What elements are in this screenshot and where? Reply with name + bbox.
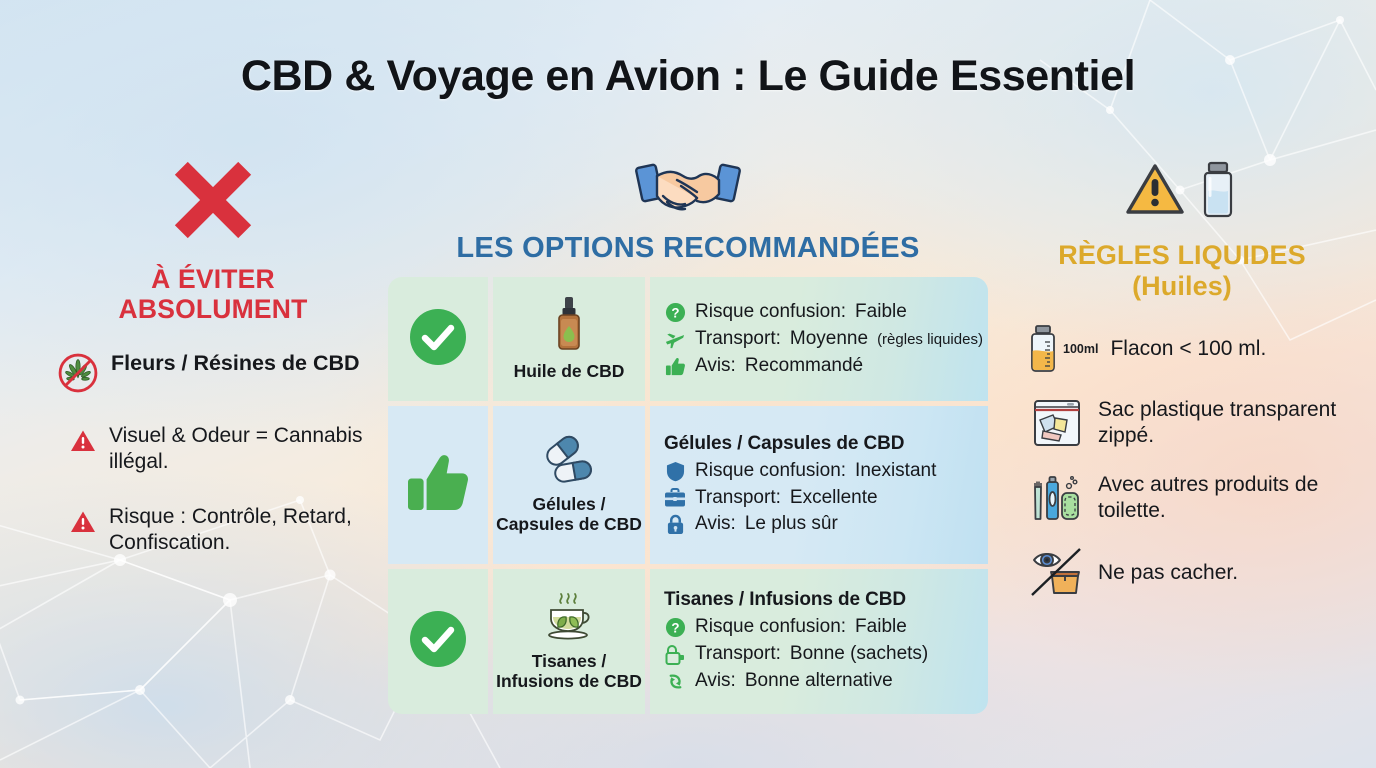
shield-icon [664,461,686,482]
detail-value: Le plus sûr [745,511,838,538]
detail-line: Transport: Bonne (sachets) [664,641,988,668]
detail-label: Avis: [695,511,736,538]
detail-line: Transport: Moyenne (règles liquides) [664,326,988,353]
left-column-avoid: À ÉVITER ABSOLUMENT [48,150,378,555]
list-item: Visuel & Odeur = Cannabis illégal. [48,423,378,474]
question-badge-icon: ? [664,302,686,323]
svg-text:?: ? [671,620,679,635]
detail-cell: ? Risque confusion: Faible Transport: [650,277,988,401]
list-item: Avec autres produits de toilette. [1006,472,1358,523]
list-item: Sac plastique transparent zippé. [1006,397,1358,448]
zip-bag-icon [1028,398,1086,448]
right-header-icons [1006,150,1358,234]
warning-triangle-icon [1125,162,1185,223]
detail-value: Recommandé [745,353,863,380]
detail-cell: Tisanes / Infusions de CBD ? Risque conf… [650,569,988,714]
product-name: Huile de CBD [514,362,625,382]
middle-heading: LES OPTIONS RECOMMANDÉES [388,232,988,265]
options-table: Huile de CBD ? Risque confusion: Faible [388,277,988,714]
detail-value: Bonne (sachets) [790,641,928,668]
right-column-liquid-rules: RÈGLES LIQUIDES (Huiles) [1006,150,1358,597]
verdict-cell [388,406,488,564]
detail-note: (règles liquides) [877,329,983,350]
detail-title: Tisanes / Infusions de CBD [664,589,988,611]
detail-label: Transport: [695,326,781,353]
list-item: Risque : Contrôle, Retard, Confiscation. [48,504,378,555]
red-x-icon [48,150,378,250]
question-badge-icon: ? [664,617,686,638]
lock-icon [664,514,686,535]
table-row: Huile de CBD ? Risque confusion: Faible [388,277,988,401]
handshake-icon [388,152,988,228]
detail-value: Faible [855,299,907,326]
green-check-circle-icon [407,306,469,373]
no-cannabis-icon [58,350,98,393]
warning-triangle-icon [68,423,98,453]
measure-label: 100ml [1063,342,1098,356]
left-heading-line1: À ÉVITER [48,264,378,294]
right-heading: RÈGLES LIQUIDES (Huiles) [1006,240,1358,301]
list-item-label: Avec autres produits de toilette. [1098,472,1358,523]
tea-cup-icon [539,592,599,647]
eye-crossed-box-icon [1028,547,1086,597]
capsules-icon [541,435,597,490]
detail-value: Inexistant [855,458,936,485]
list-item-label: Fleurs / Résines de CBD [111,350,360,376]
product-name: Tisanes / Infusions de CBD [493,652,645,692]
detail-cell: Gélules / Capsules de CBD Risque confusi… [650,406,988,564]
table-row: Tisanes / Infusions de CBD Tisanes / Inf… [388,569,988,714]
glass-bottle-icon [1197,161,1239,224]
list-item-label: Visuel & Odeur = Cannabis illégal. [109,423,378,474]
left-heading-line2: ABSOLUMENT [48,294,378,324]
airplane-icon [664,330,686,350]
briefcase-icon [664,488,686,508]
detail-title: Gélules / Capsules de CBD [664,433,988,455]
verdict-cell [388,277,488,401]
detail-label: Avis: [695,668,736,695]
detail-label: Risque confusion: [695,299,846,326]
detail-label: Risque confusion: [695,458,846,485]
detail-label: Risque confusion: [695,614,846,641]
detail-line: Avis: Le plus sûr [664,511,988,538]
detail-label: Transport: [695,641,781,668]
verdict-cell [388,569,488,714]
detail-value: Faible [855,614,907,641]
detail-line: ? Risque confusion: Faible [664,614,988,641]
right-heading-line1: RÈGLES LIQUIDES [1006,240,1358,271]
measuring-bottle-icon: 100ml [1028,325,1098,373]
product-name: Gélules / Capsules de CBD [493,495,645,535]
list-item-label: Risque : Contrôle, Retard, Confiscation. [109,504,378,555]
recycle-arrows-icon [664,671,686,692]
warning-triangle-icon [68,504,98,534]
detail-line: ? Risque confusion: Faible [664,299,988,326]
list-item: Fleurs / Résines de CBD [48,350,378,393]
svg-text:?: ? [671,305,679,320]
green-check-circle-icon [407,608,469,675]
detail-label: Avis: [695,353,736,380]
table-row: Gélules / Capsules de CBD Gélules / Caps… [388,406,988,564]
tea-bag-icon [664,644,686,666]
detail-value: Bonne alternative [745,668,893,695]
product-cell: Gélules / Capsules de CBD [493,406,645,564]
thumbs-up-icon [664,356,686,377]
right-heading-line2: (Huiles) [1006,271,1358,302]
detail-line: Transport: Excellente [664,485,988,512]
list-item-label: Ne pas cacher. [1098,560,1238,586]
detail-line: Avis: Recommandé [664,353,988,380]
detail-line: Risque confusion: Inexistant [664,458,988,485]
detail-value: Excellente [790,485,878,512]
left-heading: À ÉVITER ABSOLUMENT [48,264,378,324]
product-cell: Huile de CBD [493,277,645,401]
detail-label: Transport: [695,485,781,512]
list-item-label: Sac plastique transparent zippé. [1098,397,1358,448]
cbd-oil-dropper-bottle-icon [548,296,590,357]
product-cell: Tisanes / Infusions de CBD [493,569,645,714]
list-item: 100ml Flacon < 100 ml. [1006,325,1358,373]
middle-column-recommended: LES OPTIONS RECOMMANDÉES [388,152,988,714]
list-item: Ne pas cacher. [1006,547,1358,597]
list-item-label: Flacon < 100 ml. [1110,336,1266,362]
page-title: CBD & Voyage en Avion : Le Guide Essenti… [0,52,1376,101]
toiletries-icon [1028,473,1086,523]
green-thumbs-up-icon [405,450,471,521]
detail-line: Avis: Bonne alternative [664,668,988,695]
detail-value: Moyenne [790,326,868,353]
